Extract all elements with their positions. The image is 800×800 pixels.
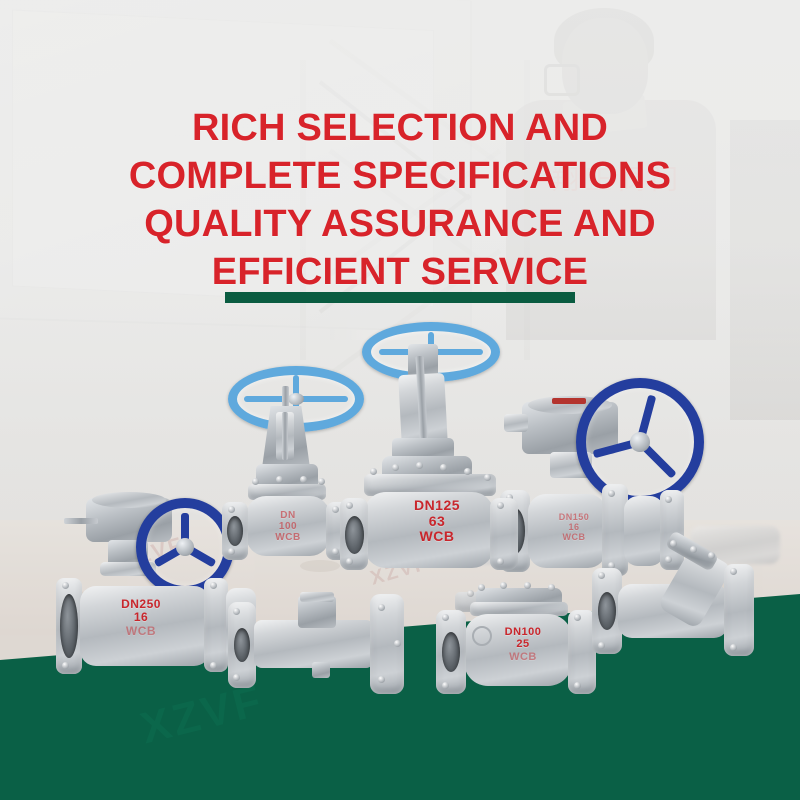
page-title: RICH SELECTION AND COMPLETE SPECIFICATIO… <box>0 104 800 296</box>
valve-label-line: DN100 <box>490 626 556 638</box>
valve-label-line: DN250 <box>96 598 186 611</box>
valve-label-line: WCB <box>542 532 606 542</box>
headline-line-1: RICH SELECTION AND <box>0 104 800 152</box>
valve-label-dn125: DN125 63 WCB <box>392 464 482 511</box>
valve-label-line: DN150 <box>542 512 606 522</box>
valve-label-line: WCB <box>392 529 482 545</box>
headline-line-3: QUALITY ASSURANCE AND <box>0 200 800 248</box>
valve-label-ball-flanged: DN150 16 WCB <box>542 512 606 542</box>
valve-label-line: 16 <box>542 522 606 532</box>
headline-divider <box>225 292 575 303</box>
valve-label-line: 100 <box>256 521 320 532</box>
valve-label-line: DN <box>256 510 320 521</box>
valve-label-line: DN125 <box>392 498 482 514</box>
valve-label-line: 16 <box>96 611 186 624</box>
valve-label-line: 25 <box>490 638 556 650</box>
headline-line-4: EFFICIENT SERVICE <box>0 248 800 296</box>
valve-label-line: WCB <box>96 625 186 638</box>
valve-label-line: 63 <box>392 514 482 530</box>
valve-label-globe: DN 100 WCB <box>256 510 320 544</box>
banner-canvas: 翔正阀门 RICH SELECTION AND COMPLETE SPECIFI… <box>0 0 800 800</box>
valve-label-line: WCB <box>256 532 320 543</box>
valve-label-dn250: DN250 16 WCB <box>96 598 186 638</box>
valve-label-line: WCB <box>490 651 556 663</box>
valve-label-dn100: DN100 25 WCB <box>490 626 556 663</box>
headline-line-2: COMPLETE SPECIFICATIONS <box>0 152 800 200</box>
product-flanged-spool-valve[interactable] <box>228 592 418 700</box>
product-gate-valve-dn125[interactable]: DN125 63 WCB <box>340 322 540 582</box>
product-y-strainer[interactable] <box>592 548 762 676</box>
handwheel-ball-valve-flanged[interactable] <box>576 378 704 506</box>
product-swing-check-valve-dn100[interactable]: DN100 25 WCB <box>428 584 603 706</box>
